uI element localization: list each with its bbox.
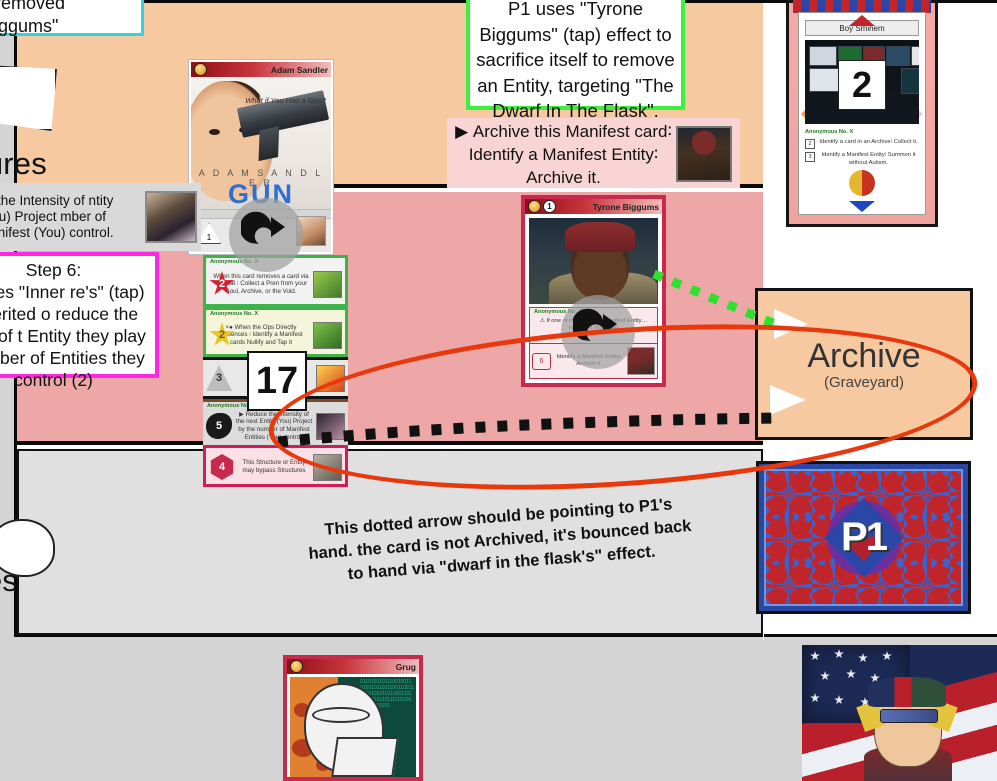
eye-icon xyxy=(209,129,220,135)
callout-cyan-line2: ne Biggums" xyxy=(0,15,141,38)
callout-cyan-line1: n its removed xyxy=(0,0,141,15)
arrow-up-icon xyxy=(849,15,875,26)
card-adam-sandler[interactable]: Adam Sandler What if You Had a Gun? A D … xyxy=(189,60,333,254)
cost-pip-icon: 1 xyxy=(543,200,556,213)
stack-row-thumbnail xyxy=(313,271,342,298)
structure-ability-strip[interactable]: ce the Intensity of ntity (You) Project … xyxy=(0,183,201,251)
tap-symbol-icon xyxy=(229,198,303,272)
beanie-icon xyxy=(565,222,635,252)
card-ability-block: Anonymous No. X 2 Identify a card in an … xyxy=(805,129,919,196)
card-back-p1[interactable]: P1 xyxy=(756,461,971,614)
structure-ability-thumbnail xyxy=(145,191,197,243)
ability-cost: 3 xyxy=(805,152,815,162)
card-name: Tyrone Biggums xyxy=(593,202,659,212)
callout-green-text: P1 uses "Tyrone Biggums" (tap) effect to… xyxy=(475,0,676,124)
structure-ability-text: ce the Intensity of ntity (You) Project … xyxy=(0,193,141,241)
callout-pink-thumbnail xyxy=(676,126,732,182)
callout-cyan[interactable]: n its removed ne Biggums" xyxy=(0,0,144,36)
card-name: Adam Sandler xyxy=(271,65,328,75)
arrow-down-icon xyxy=(849,201,875,212)
callout-magenta-text: 1 uses "Inner re's" (tap) inherited o re… xyxy=(0,281,151,391)
callout-pink-line3: Archive it. xyxy=(455,166,672,189)
card-art: What if You Had a Gun? A D A M S A N D L… xyxy=(191,77,331,210)
card-tagline: What if You Had a Gun? xyxy=(245,96,326,105)
p1-label: P1 xyxy=(841,515,886,560)
callout-green-step[interactable]: P1 uses "Tyrone Biggums" (tap) effect to… xyxy=(466,0,685,110)
card-ability-text: Identify a Manifest Entity∶ Summon it wi… xyxy=(818,152,919,167)
element-pip-icon xyxy=(290,660,303,673)
card-art: 0110100101110010011010010110111001100111… xyxy=(290,677,416,777)
card-name: Grug xyxy=(396,662,416,672)
stack-row-tag: Anonymous No. X xyxy=(210,311,258,317)
zone-structures-label: tures xyxy=(0,146,47,182)
card-grug[interactable]: Grug 01101001011100100110100101101110011… xyxy=(283,655,423,781)
card-inner: Boy Sminem 2 Anonymous No. X 2 Identify … xyxy=(798,12,926,215)
element-pip-icon xyxy=(528,200,541,213)
card-title-bar: 1 Tyrone Biggums xyxy=(525,199,662,214)
visor-icon xyxy=(880,709,938,723)
element-pip-icon xyxy=(194,63,207,76)
callout-pink-ability[interactable]: ▶ Archive this Manifest card∶ Identify a… xyxy=(447,118,740,188)
stack-row[interactable]: Anonymous No. X 2 ×● When the Ops Direct… xyxy=(203,307,348,357)
ability-cost: 2 xyxy=(805,139,815,149)
anime-character xyxy=(864,673,952,781)
card-ability-text: Identify a card in an Archive∶ Collect i… xyxy=(818,139,919,149)
yin-yang-icon xyxy=(849,170,875,196)
grug-brow xyxy=(312,707,370,723)
card-number: 2 xyxy=(838,60,886,110)
card-title-bar: Grug xyxy=(287,659,419,674)
screen-root: tures es ce the Intensity of ntity (You)… xyxy=(0,0,997,781)
grug-book xyxy=(331,737,399,777)
card-art xyxy=(529,218,658,304)
speech-bubble-small-icon xyxy=(0,519,55,577)
play-arrow-icon: ▶ xyxy=(455,122,468,141)
card-art: 2 xyxy=(805,40,919,124)
cost-gem-icon: 4 xyxy=(209,454,235,480)
callout-pink-line1: Archive this Manifest card∶ xyxy=(473,122,672,141)
bandana-icon xyxy=(868,677,946,707)
callout-magenta-step6[interactable]: Step 6: 1 uses "Inner re's" (tap) inheri… xyxy=(0,252,159,378)
p1-badge: P1 xyxy=(827,501,901,575)
cost-gem-icon: 3 xyxy=(206,365,232,391)
callout-magenta-title: Step 6: xyxy=(0,259,151,281)
usa-flag-image xyxy=(802,645,997,781)
card-boy-sminem[interactable]: Boy Sminem 2 Anonymous No. X 2 Identify … xyxy=(786,0,938,227)
stack-row-thumbnail xyxy=(313,322,342,349)
callout-pink-line2: Identify a Manifest Entity∶ xyxy=(455,143,672,166)
speech-bubble-icon xyxy=(0,65,57,131)
card-title-bar: Adam Sandler xyxy=(191,62,331,77)
cost-gem-icon: 5 xyxy=(206,413,232,439)
card-ability-tag: Anonymous No. X xyxy=(805,129,919,136)
